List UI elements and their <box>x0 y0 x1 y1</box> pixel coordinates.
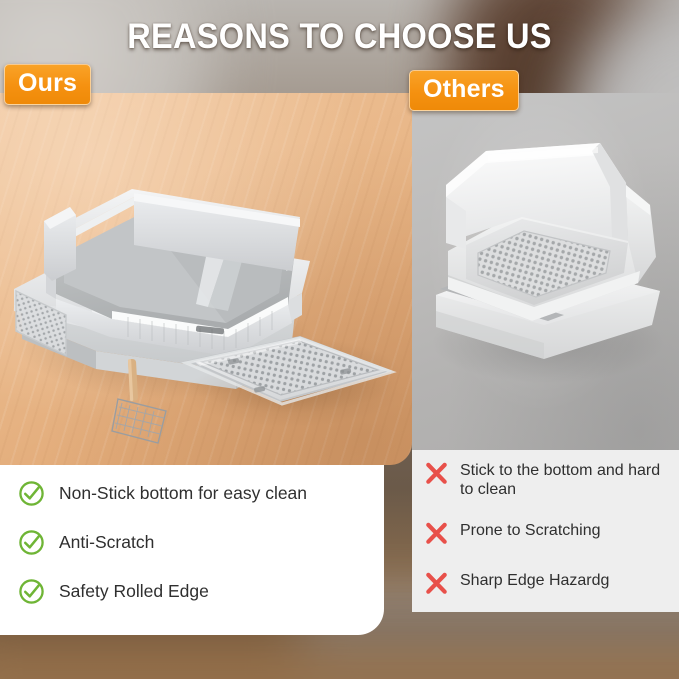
list-item: Stick to the bottom and hard to clean <box>424 460 674 499</box>
list-item: Prone to Scratching <box>424 520 674 546</box>
x-mark-icon <box>424 461 449 486</box>
check-circle-icon <box>18 578 45 605</box>
ours-badge: Ours <box>4 64 91 105</box>
others-badge: Others <box>409 70 519 111</box>
comparison-infographic: REASONS TO CHOOSE US <box>0 0 679 679</box>
list-item-label: Stick to the bottom and hard to clean <box>460 460 674 499</box>
plastic-litter-box-illustration <box>412 93 679 450</box>
list-item-label: Anti-Scratch <box>59 532 154 553</box>
ours-feature-list: Non-Stick bottom for easy clean Anti-Scr… <box>0 465 384 635</box>
page-title: REASONS TO CHOOSE US <box>24 17 655 57</box>
x-mark-icon <box>424 521 449 546</box>
list-item: Sharp Edge Hazardg <box>424 570 674 596</box>
others-product-photo <box>412 93 679 450</box>
list-item-label: Non-Stick bottom for easy clean <box>59 483 307 504</box>
ours-product-photo <box>0 93 412 465</box>
check-circle-icon <box>18 480 45 507</box>
list-item-label: Safety Rolled Edge <box>59 581 209 602</box>
list-item-label: Prone to Scratching <box>460 520 601 540</box>
stainless-litter-box-illustration <box>0 93 412 465</box>
list-item-label: Sharp Edge Hazardg <box>460 570 609 590</box>
list-item: Anti-Scratch <box>18 529 370 556</box>
list-item: Non-Stick bottom for easy clean <box>18 480 370 507</box>
list-item: Safety Rolled Edge <box>18 578 370 605</box>
x-mark-icon <box>424 571 449 596</box>
others-drawback-list: Stick to the bottom and hard to clean Pr… <box>412 450 679 612</box>
check-circle-icon <box>18 529 45 556</box>
ours-card: Non-Stick bottom for easy clean Anti-Scr… <box>0 93 412 635</box>
background-bottom-wood <box>0 640 679 679</box>
